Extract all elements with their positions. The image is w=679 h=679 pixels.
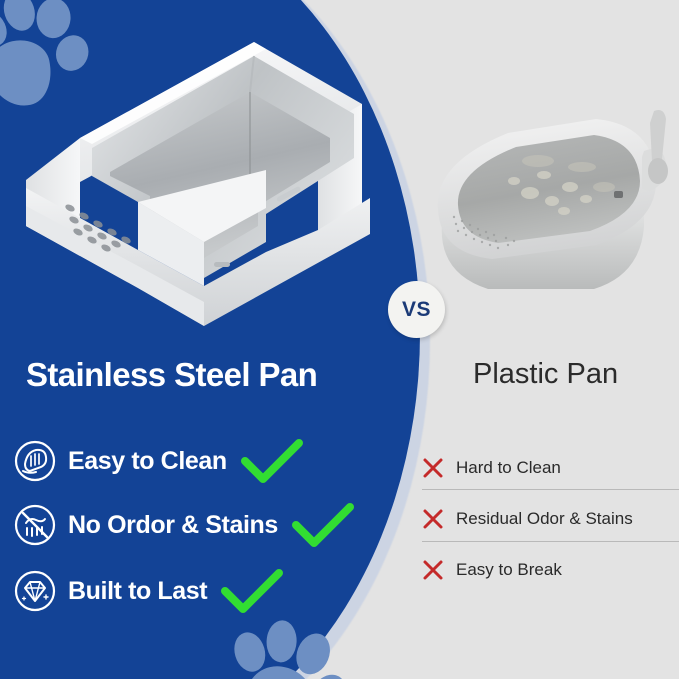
right-feature-row: Hard to Clean <box>422 457 561 479</box>
vs-badge: VS <box>388 281 445 338</box>
left-feature-label: No Ordor & Stains <box>68 511 278 540</box>
left-feature-row: Built to Last <box>14 567 285 615</box>
left-title: Stainless Steel Pan <box>26 356 317 394</box>
red-x-icon <box>422 508 444 530</box>
red-x-icon <box>422 559 444 581</box>
left-feature-row: Easy to Clean <box>14 437 305 485</box>
right-title: Plastic Pan <box>473 358 618 391</box>
vs-label: VS <box>402 298 431 322</box>
comparison-infographic: VS Stainless Steel Pan Plastic Pan Easy … <box>0 0 679 679</box>
row-divider <box>422 541 679 542</box>
right-feature-row: Easy to Break <box>422 559 562 581</box>
left-feature-label: Easy to Clean <box>68 447 227 476</box>
right-feature-label: Hard to Clean <box>456 458 561 478</box>
green-check-icon <box>219 567 285 615</box>
red-x-icon <box>422 457 444 479</box>
wiping-hand-icon <box>14 440 56 482</box>
no-odor-icon <box>14 504 56 546</box>
right-feature-label: Easy to Break <box>456 560 562 580</box>
left-feature-label: Built to Last <box>68 577 207 606</box>
diamond-icon <box>14 570 56 612</box>
green-check-icon <box>239 437 305 485</box>
stainless-steel-pan-image <box>18 30 370 330</box>
green-check-icon <box>290 501 356 549</box>
right-feature-label: Residual Odor & Stains <box>456 509 633 529</box>
paw-toe <box>266 620 298 664</box>
row-divider <box>422 489 679 490</box>
right-feature-row: Residual Odor & Stains <box>422 508 633 530</box>
plastic-pan-image <box>418 105 674 305</box>
left-feature-row: No Ordor & Stains <box>14 501 356 549</box>
